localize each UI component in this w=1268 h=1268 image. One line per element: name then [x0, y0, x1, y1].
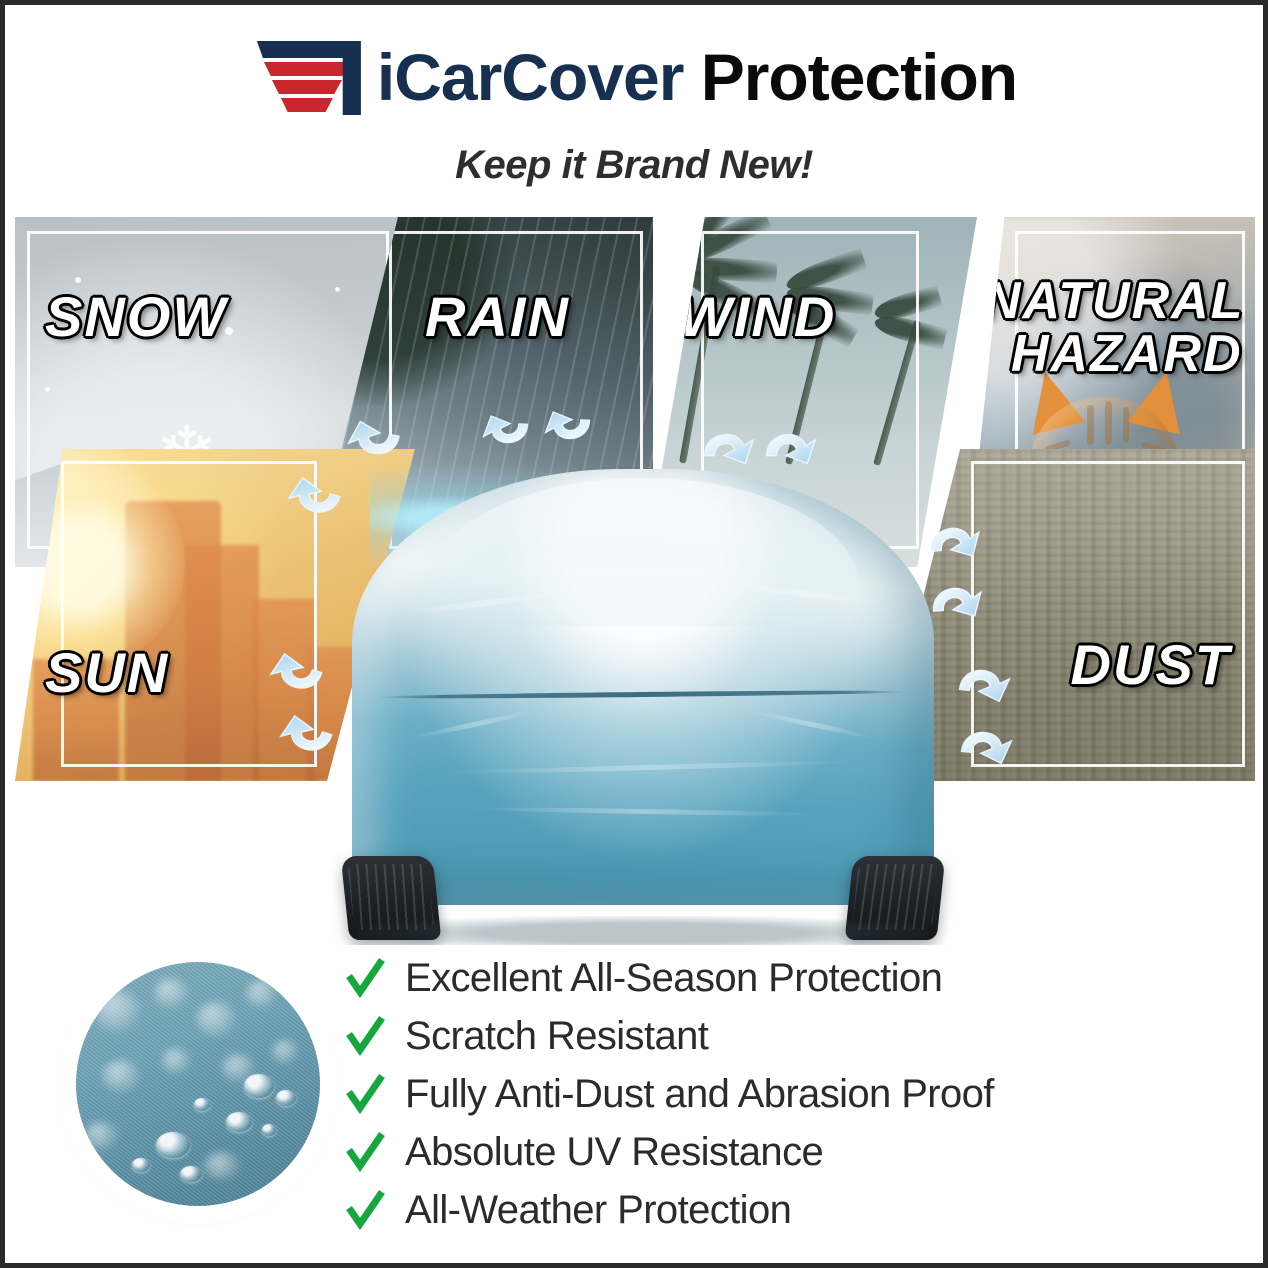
feature-label: Absolute UV Resistance — [405, 1131, 823, 1173]
list-item: Scratch Resistant — [345, 1009, 1205, 1063]
panel-label-snow: SNOW — [45, 289, 227, 345]
icarcover-flag-logo-icon — [251, 37, 363, 117]
panel-label-line2: HAZARD — [1011, 328, 1243, 381]
header: iCarCover Protection Keep it Brand New! — [5, 5, 1263, 210]
feature-label: All-Weather Protection — [405, 1189, 791, 1231]
list-item: Absolute UV Resistance — [345, 1125, 1205, 1179]
car-cover-product-image — [333, 439, 953, 945]
panel-label-wind: WIND — [679, 289, 836, 345]
list-item: All-Weather Protection — [345, 1183, 1205, 1237]
list-item: Fully Anti-Dust and Abrasion Proof — [345, 1067, 1205, 1121]
check-icon — [345, 1014, 385, 1058]
feature-label: Scratch Resistant — [405, 1015, 708, 1057]
panel-label-natural-hazard: NATURALHAZARD — [983, 275, 1244, 381]
brand-name-secondary: Protection — [683, 40, 1017, 114]
brand-title: iCarCover Protection — [377, 37, 1017, 117]
panel-label-dust: DUST — [1071, 637, 1231, 693]
check-icon — [345, 1072, 385, 1116]
check-icon — [345, 956, 385, 1000]
brand-lockup: iCarCover Protection — [5, 31, 1263, 123]
features-section: Excellent All-Season Protection Scratch … — [5, 945, 1263, 1263]
tagline: Keep it Brand New! — [5, 143, 1263, 188]
benefits-collage: ❄ SNOW RAIN — [15, 217, 1255, 945]
panel-label-line1: NATURAL — [983, 272, 1244, 330]
feature-label: Excellent All-Season Protection — [405, 957, 942, 999]
panel-label-sun: SUN — [45, 645, 169, 701]
check-icon — [345, 1188, 385, 1232]
water-beading-fabric-swatch — [67, 953, 329, 1215]
feature-label: Fully Anti-Dust and Abrasion Proof — [405, 1073, 994, 1115]
feature-list: Excellent All-Season Protection Scratch … — [345, 945, 1205, 1245]
check-icon — [345, 1130, 385, 1174]
brand-name-primary: iCarCover — [377, 40, 683, 114]
list-item: Excellent All-Season Protection — [345, 951, 1205, 1005]
product-infographic: iCarCover Protection Keep it Brand New! … — [0, 0, 1268, 1268]
panel-label-rain: RAIN — [425, 289, 570, 345]
